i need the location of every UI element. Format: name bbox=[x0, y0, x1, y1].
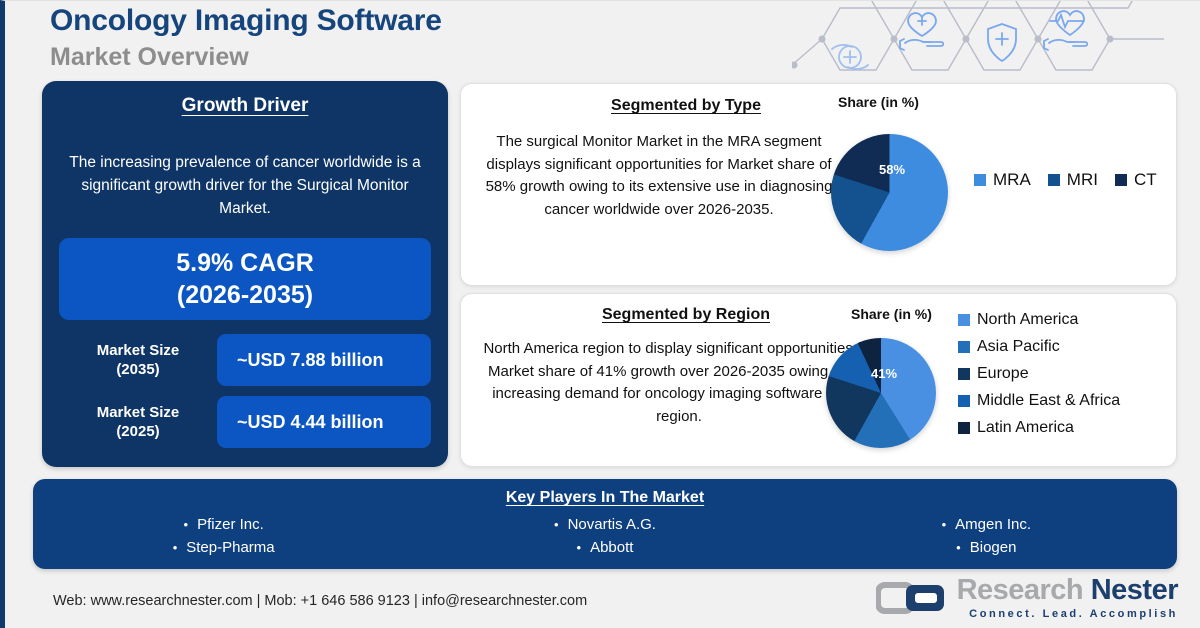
player-name: Biogen bbox=[970, 539, 1017, 556]
legend-swatch-asia-pacific bbox=[958, 341, 970, 353]
growth-driver-heading: Growth Driver bbox=[42, 81, 448, 117]
footer-contact: Web: www.researchnester.com | Mob: +1 64… bbox=[53, 593, 587, 609]
legend-item-mra: MRA bbox=[974, 170, 1031, 190]
legend-swatch-latin-america bbox=[958, 422, 970, 434]
hexagon-pattern-icon bbox=[792, 0, 1182, 83]
segment-type-pie-chart bbox=[831, 134, 948, 251]
segment-type-share-label: Share (in %) bbox=[838, 94, 919, 110]
legend-label-middle-east-africa: Middle East & Africa bbox=[977, 392, 1120, 410]
player-name: Step-Pharma bbox=[186, 539, 274, 556]
bullet-icon: • bbox=[956, 540, 961, 555]
cagr-box: 5.9% CAGR (2026-2035) bbox=[59, 238, 431, 320]
market-size-row-2035: Market Size (2035) ~USD 7.88 billion bbox=[59, 334, 431, 386]
logo-word-nester: Nester bbox=[1091, 574, 1178, 606]
page-title: Oncology Imaging Software bbox=[50, 3, 442, 39]
legend-label-ct: CT bbox=[1134, 170, 1157, 190]
segmented-by-type-card: Segmented by Type The surgical Monitor M… bbox=[460, 83, 1177, 286]
legend-item-asia-pacific: Asia Pacific bbox=[958, 338, 1120, 356]
legend-swatch-north-america bbox=[958, 314, 970, 326]
bullet-icon: • bbox=[577, 540, 582, 555]
brand-logo: Research Nester Connect. Lead. Accomplis… bbox=[876, 576, 1178, 620]
key-players-card: Key Players In The Market •Pfizer Inc. •… bbox=[33, 479, 1177, 569]
key-players-title: Key Players In The Market bbox=[33, 479, 1177, 507]
segment-region-legend: North America Asia Pacific Europe Middle… bbox=[958, 311, 1120, 437]
heart-hand-icon bbox=[900, 13, 943, 50]
legend-item-ct: CT bbox=[1115, 170, 1157, 190]
legend-label-asia-pacific: Asia Pacific bbox=[977, 338, 1060, 356]
legend-swatch-middle-east-africa bbox=[958, 395, 970, 407]
bullet-icon: • bbox=[554, 517, 559, 532]
list-item: •Step-Pharma bbox=[33, 536, 414, 559]
logo-wordmark: Research Nester Connect. Lead. Accomplis… bbox=[957, 576, 1178, 620]
growth-driver-text: The increasing prevalence of cancer worl… bbox=[42, 117, 448, 220]
segment-type-text: The surgical Monitor Market in the MRA s… bbox=[479, 131, 839, 221]
segment-region-heading: Segmented by Region bbox=[531, 306, 841, 324]
heartbeat-hand-icon bbox=[1044, 11, 1087, 50]
legend-label-latin-america: Latin America bbox=[977, 419, 1074, 437]
market-size-value-2035: ~USD 7.88 billion bbox=[217, 334, 431, 386]
segment-type-pie-label: 58% bbox=[879, 162, 905, 177]
growth-driver-card: Growth Driver The increasing prevalence … bbox=[42, 81, 448, 467]
legend-item-middle-east-africa: Middle East & Africa bbox=[958, 392, 1120, 410]
legend-label-mra: MRA bbox=[993, 170, 1031, 190]
market-size-label-line2: (2025) bbox=[59, 422, 217, 441]
hands-care-icon bbox=[832, 45, 868, 69]
bullet-icon: • bbox=[184, 517, 189, 532]
market-size-label-line1: Market Size bbox=[59, 341, 217, 360]
legend-swatch-ct bbox=[1115, 174, 1127, 186]
legend-label-mri: MRI bbox=[1067, 170, 1098, 190]
player-name: Amgen Inc. bbox=[955, 516, 1031, 533]
logo-text: Research Nester bbox=[957, 576, 1178, 605]
legend-label-north-america: North America bbox=[977, 311, 1078, 329]
player-name: Pfizer Inc. bbox=[197, 516, 264, 533]
segment-region-pie-label: 41% bbox=[871, 366, 897, 381]
list-item: •Biogen bbox=[796, 536, 1177, 559]
shield-cross-icon bbox=[988, 24, 1016, 61]
legend-item-europe: Europe bbox=[958, 365, 1120, 383]
cagr-period: (2026-2035) bbox=[177, 279, 313, 311]
legend-swatch-mri bbox=[1048, 174, 1060, 186]
legend-label-europe: Europe bbox=[977, 365, 1029, 383]
key-players-column-1: •Pfizer Inc. •Step-Pharma bbox=[33, 513, 414, 559]
research-nester-logo-icon bbox=[876, 579, 948, 617]
list-item: •Abbott bbox=[414, 536, 795, 559]
bullet-icon: • bbox=[173, 540, 178, 555]
market-size-label-2025: Market Size (2025) bbox=[59, 403, 217, 441]
list-item: •Novartis A.G. bbox=[414, 513, 795, 536]
page-subtitle: Market Overview bbox=[50, 41, 442, 73]
market-size-value-2025: ~USD 4.44 billion bbox=[217, 396, 431, 448]
list-item: •Amgen Inc. bbox=[796, 513, 1177, 536]
key-players-column-3: •Amgen Inc. •Biogen bbox=[796, 513, 1177, 559]
legend-swatch-europe bbox=[958, 368, 970, 380]
logo-word-research: Research bbox=[957, 574, 1084, 606]
market-size-label-2035: Market Size (2035) bbox=[59, 341, 217, 379]
segment-region-share-label: Share (in %) bbox=[851, 306, 932, 322]
market-size-label-line1: Market Size bbox=[59, 403, 217, 422]
segment-region-pie-chart bbox=[826, 338, 936, 448]
market-size-label-line2: (2035) bbox=[59, 360, 217, 379]
segment-type-legend: MRA MRI CT bbox=[974, 170, 1157, 190]
cagr-value: 5.9% CAGR bbox=[176, 247, 314, 279]
key-players-columns: •Pfizer Inc. •Step-Pharma •Novartis A.G.… bbox=[33, 507, 1177, 559]
legend-item-north-america: North America bbox=[958, 311, 1120, 329]
legend-swatch-mra bbox=[974, 174, 986, 186]
infographic-root: Oncology Imaging Software Market Overvie… bbox=[0, 0, 1200, 628]
segment-region-text: North America region to display signific… bbox=[479, 338, 879, 428]
legend-item-mri: MRI bbox=[1048, 170, 1098, 190]
bullet-icon: • bbox=[942, 517, 947, 532]
hexagon-watermark bbox=[792, 0, 1182, 83]
header: Oncology Imaging Software Market Overvie… bbox=[50, 3, 442, 73]
logo-tagline: Connect. Lead. Accomplish bbox=[957, 609, 1178, 620]
list-item: •Pfizer Inc. bbox=[33, 513, 414, 536]
segmented-by-region-card: Segmented by Region North America region… bbox=[460, 293, 1177, 467]
player-name: Abbott bbox=[590, 539, 633, 556]
legend-item-latin-america: Latin America bbox=[958, 419, 1120, 437]
market-size-row-2025: Market Size (2025) ~USD 4.44 billion bbox=[59, 396, 431, 448]
key-players-column-2: •Novartis A.G. •Abbott bbox=[414, 513, 795, 559]
player-name: Novartis A.G. bbox=[568, 516, 656, 533]
segment-type-heading: Segmented by Type bbox=[566, 97, 806, 115]
